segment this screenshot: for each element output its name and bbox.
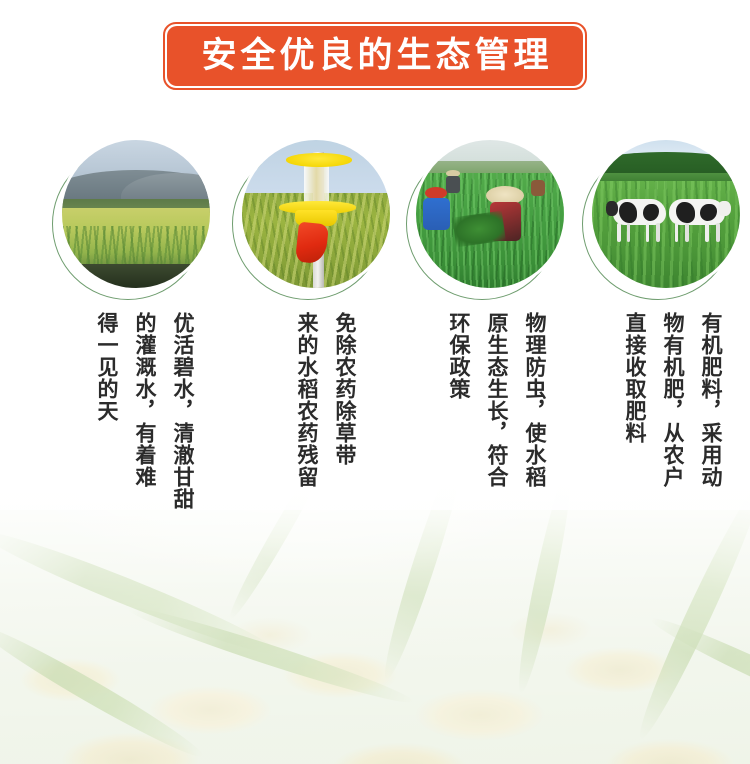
cow-icon: [613, 199, 666, 243]
insect-trap-photo: [242, 140, 390, 288]
text-column: 的灌溉水，有着难: [132, 312, 158, 488]
cow-icon: [669, 199, 725, 243]
page-title: 安全优良的生态管理: [197, 39, 552, 74]
text-column: 直接收取肥料: [622, 312, 648, 444]
rice-field-with-mountains-photo: [62, 140, 210, 288]
text-column: 物理防虫，使水稻: [522, 312, 548, 488]
title-banner: 安全优良的生态管理: [163, 22, 587, 90]
text-column: 环保政策: [446, 312, 472, 400]
text-column: 得一见的天: [94, 312, 120, 422]
feature-photo-row: [0, 140, 750, 315]
feature-card-pesticide-free: [232, 140, 400, 310]
farmers-in-paddy-photo: [416, 140, 564, 288]
promo-page: 安全优良的生态管理: [0, 0, 750, 764]
text-column: 优活碧水，清澈甘甜: [170, 312, 196, 510]
text-column: 来的水稻农药残留: [294, 312, 320, 488]
feature-text-eco-growth: 物理防虫，使水稻 原生态生长，符合 环保政策: [428, 312, 548, 488]
feature-text-row: 优活碧水，清澈甘甜 的灌溉水，有着难 得一见的天 免除农药除草带 来的水稻农药残…: [0, 312, 750, 542]
feature-card-eco-growth: [406, 140, 574, 310]
text-column: 物有机肥，从农户: [660, 312, 686, 488]
text-column: 原生态生长，符合: [484, 312, 510, 488]
feature-card-organic-fertilizer: [582, 140, 750, 310]
title-banner-fill: 安全优良的生态管理: [167, 26, 583, 86]
feature-text-organic-fertilizer: 有机肥料，采用动 物有机肥，从农户 直接收取肥料: [604, 312, 724, 488]
text-column: 免除农药除草带: [332, 312, 358, 466]
dairy-cows-pasture-photo: [592, 140, 740, 288]
feature-card-water: [52, 140, 220, 310]
feature-text-pesticide-free: 免除农药除草带 来的水稻农药残留: [266, 312, 358, 488]
text-column: 有机肥料，采用动: [698, 312, 724, 488]
feature-text-water: 优活碧水，清澈甘甜 的灌溉水，有着难 得一见的天: [76, 312, 196, 510]
